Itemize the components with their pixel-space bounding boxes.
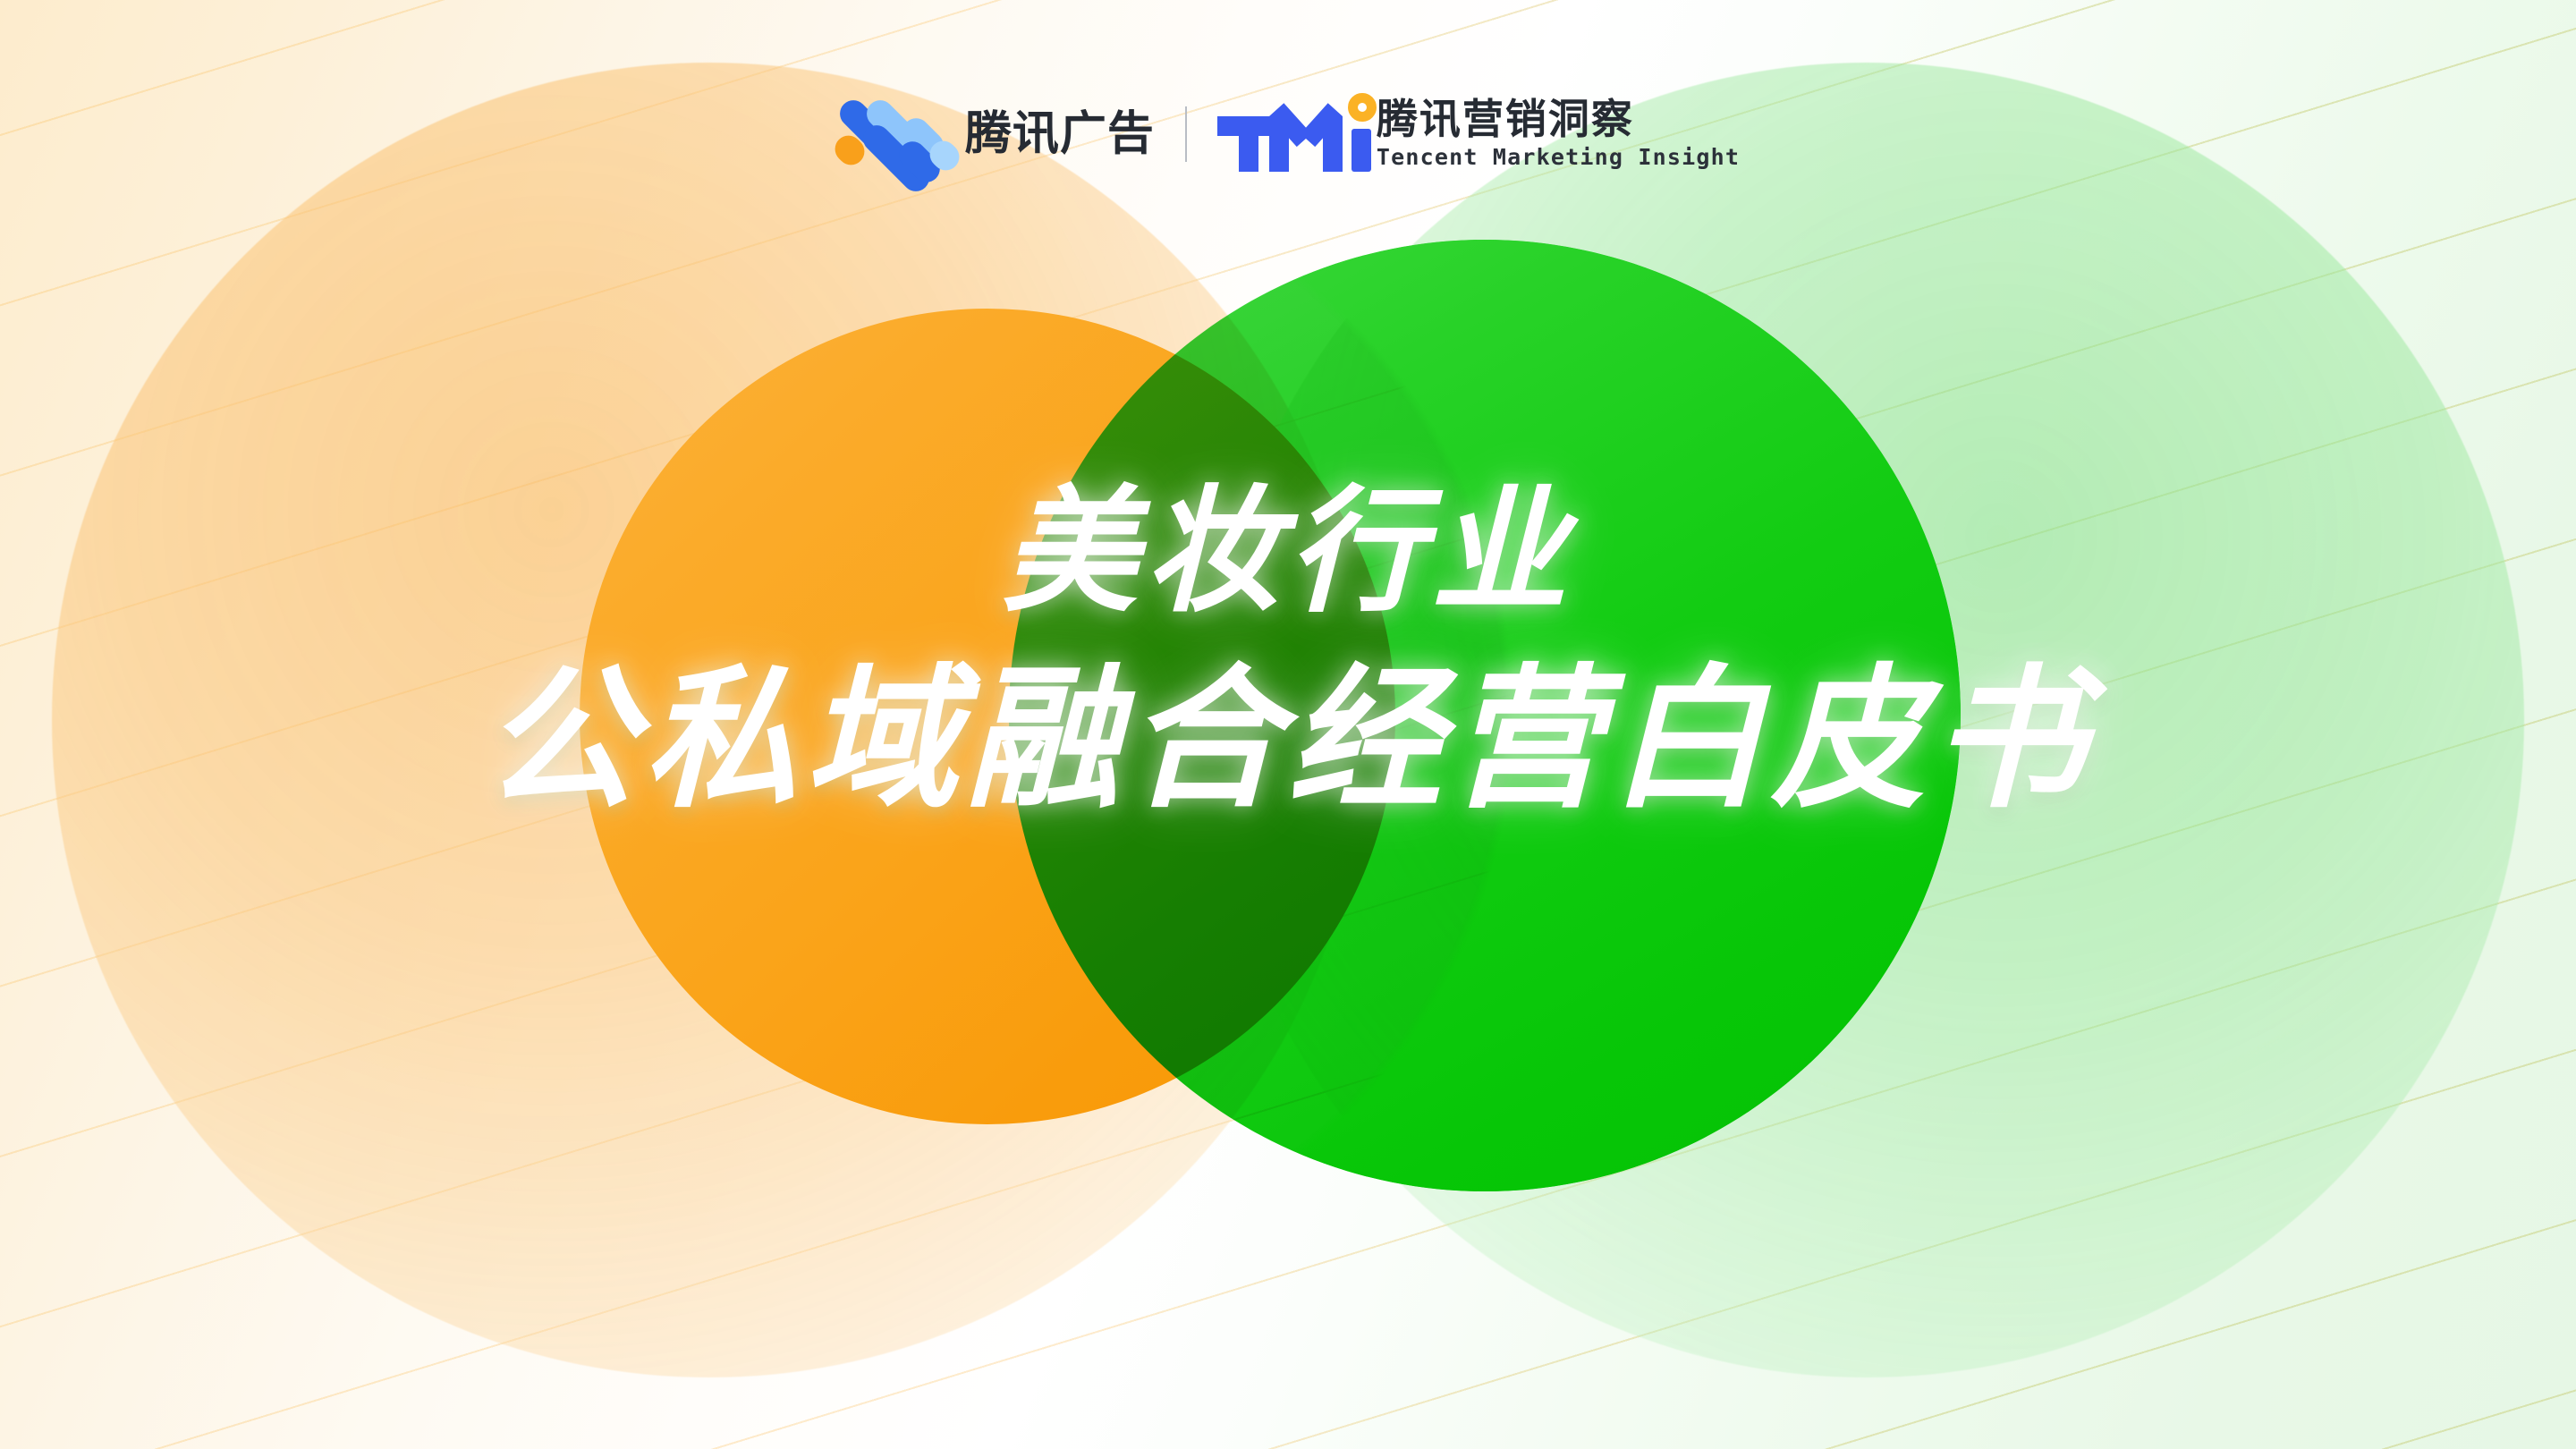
tencent-ads-logo[interactable]: 腾讯广告 <box>836 96 1155 173</box>
tmi-wordmark-cn: 腾讯营销洞察 <box>1377 97 1740 140</box>
venn-circle-green-solid <box>1009 240 1961 1191</box>
tmi-logo[interactable]: 腾讯营销洞察 Tencent Marketing Insight <box>1217 97 1740 172</box>
tencent-ads-mark-icon <box>836 96 951 173</box>
logo-divider <box>1185 106 1187 162</box>
tmi-wordmark-group: 腾讯营销洞察 Tencent Marketing Insight <box>1377 97 1740 171</box>
tmi-mark-icon <box>1217 97 1362 172</box>
tmi-wordmark-en: Tencent Marketing Insight <box>1377 145 1740 171</box>
tencent-ads-wordmark: 腾讯广告 <box>965 111 1155 157</box>
logo-lockup: 腾讯广告 腾讯营销洞察 Tencent Marketing Insight <box>0 88 2576 181</box>
cover-canvas: 腾讯广告 腾讯营销洞察 Tencent Marketing Insight <box>0 0 2576 1449</box>
